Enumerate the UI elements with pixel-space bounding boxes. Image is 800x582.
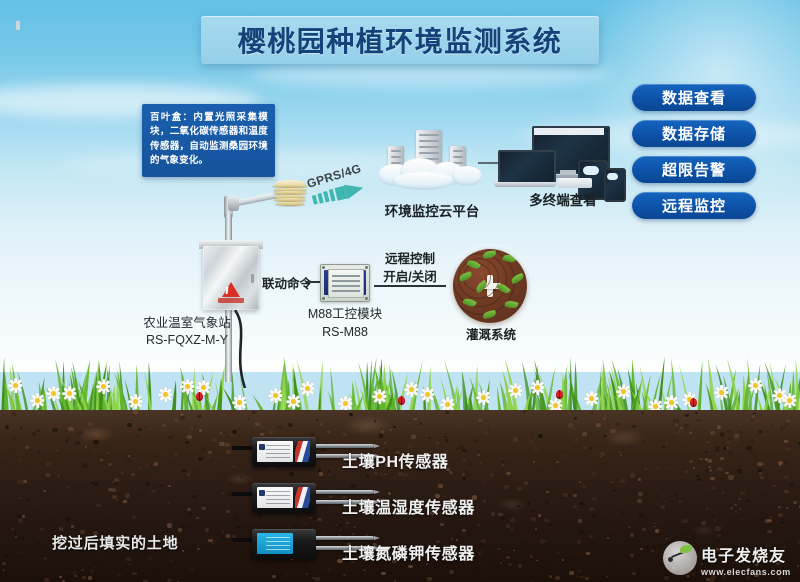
soil-speck <box>630 417 635 421</box>
soil-speck <box>235 518 240 522</box>
soil-speck <box>205 528 210 532</box>
daisy-flower <box>46 386 61 401</box>
soil-speck <box>497 488 499 490</box>
soil-speck <box>168 485 171 488</box>
soil-speck <box>108 463 112 466</box>
soil-speck <box>655 529 659 532</box>
soil-speck <box>784 440 788 443</box>
soil-speck <box>485 504 490 508</box>
soil-speck <box>25 446 29 449</box>
soil-speck <box>57 474 61 477</box>
soil-speck <box>530 440 534 443</box>
feature-pill-data-view[interactable]: 数据查看 <box>632 84 756 111</box>
soil-speck <box>107 452 108 453</box>
soil-speck <box>42 504 47 508</box>
soil-speck <box>689 432 692 434</box>
soil-speck <box>9 468 10 469</box>
soil-speck <box>637 499 642 503</box>
soil-speck <box>178 528 183 532</box>
cloud-puff-icon <box>452 166 482 186</box>
soil-speck <box>784 490 788 493</box>
soil-speck <box>490 424 494 427</box>
soil-speck <box>288 423 293 427</box>
daisy-flower <box>372 389 387 404</box>
soil-speck <box>192 498 194 499</box>
soil-speck <box>174 458 176 459</box>
soil-speck <box>231 433 234 435</box>
soil-speck <box>100 459 104 462</box>
soil-speck <box>116 499 118 501</box>
soil-speck <box>558 552 560 553</box>
soil-speck <box>308 562 311 565</box>
soil-speck <box>734 434 739 438</box>
soil-speck <box>591 412 593 413</box>
soil-speck <box>426 525 428 527</box>
soil-speck <box>637 481 640 483</box>
soil-speck <box>195 559 197 560</box>
soil-speck <box>197 541 200 543</box>
soil-speck <box>605 565 607 566</box>
soil-speck <box>353 526 356 529</box>
soil-speck <box>255 422 260 426</box>
soil-speck <box>159 484 163 487</box>
soil-speck <box>328 470 330 472</box>
m88-control-module-icon <box>320 264 370 302</box>
soil-speck <box>573 421 576 423</box>
cloud-platform-label: 环境监控云平台 <box>385 204 480 219</box>
louver-box-callout: 百叶盒：内置光照采集模块，二氧化碳传感器和温度传感器，自动监测桑园环境的气象变化… <box>142 104 275 177</box>
soil-speck <box>574 417 578 420</box>
soil-speck <box>167 523 173 527</box>
soil-speck <box>145 426 148 428</box>
desk-device <box>558 178 592 188</box>
soil-speck <box>498 513 502 516</box>
soil-speck <box>497 548 500 551</box>
soil-speck <box>382 579 386 582</box>
soil-speck <box>317 518 321 521</box>
soil-speck <box>393 426 396 428</box>
soil-speck <box>653 469 655 470</box>
soil-speck <box>84 439 89 443</box>
soil-speck <box>320 423 323 425</box>
soil-speck <box>770 509 773 511</box>
soil-speck <box>294 525 297 527</box>
sensor-wire <box>232 446 254 450</box>
soil-speck <box>632 572 636 575</box>
soil-speck <box>662 495 665 497</box>
soil-speck <box>96 504 101 508</box>
soil-speck <box>297 571 301 574</box>
soil-speck <box>379 434 383 437</box>
watermark-text: 电子发烧友 www.elecfans.com <box>701 542 791 577</box>
soil-speck <box>545 505 550 509</box>
soil-speck <box>229 528 233 531</box>
soil-speck <box>725 472 728 475</box>
soil-speck <box>562 559 565 561</box>
soil-speck <box>201 447 206 451</box>
soil-speck <box>235 514 237 516</box>
soil-speck <box>329 449 332 451</box>
soil-speck <box>568 423 574 427</box>
sensor-label-plate <box>257 487 293 508</box>
soil-speck <box>641 412 644 415</box>
soil-speck <box>550 533 552 535</box>
soil-speck <box>315 577 319 580</box>
soil-speck <box>434 564 439 568</box>
soil-speck <box>789 483 794 487</box>
soil-speck <box>655 466 659 469</box>
soil-speck <box>545 501 549 504</box>
soil-speck <box>81 569 84 571</box>
soil-speck <box>664 576 669 580</box>
soil-speck <box>572 427 575 429</box>
soil-speck <box>715 446 720 450</box>
soil-speck <box>366 475 369 478</box>
remote-control-line1: 远程控制 <box>372 251 448 269</box>
soil-speck <box>20 427 23 429</box>
soil-speck <box>438 484 443 488</box>
soil-speck <box>580 527 583 530</box>
soil-speck <box>436 442 439 444</box>
remote-control-line2: 开启/关闭 <box>372 269 448 287</box>
soil-speck <box>94 567 95 568</box>
soil-speck <box>19 536 24 540</box>
irrigation-caption: 灌溉系统 <box>445 324 537 344</box>
soil-speck <box>77 526 80 529</box>
soil-speck <box>338 528 343 532</box>
soil-speck <box>720 432 726 436</box>
soil-speck <box>5 555 8 558</box>
soil-speck <box>226 510 230 513</box>
feature-pill-label: 数据查看 <box>662 87 726 108</box>
cloud-wisp <box>250 60 610 88</box>
soil-speck <box>555 488 560 492</box>
daisy-flower <box>180 379 195 394</box>
soil-speck <box>630 473 636 477</box>
feature-pill-data-storage[interactable]: 数据存储 <box>632 120 756 147</box>
soil-speck <box>219 442 224 446</box>
soil-speck <box>785 423 788 425</box>
soil-speck <box>796 575 800 578</box>
soil-speck <box>23 480 27 483</box>
soil-speck <box>546 491 549 493</box>
soil-speck <box>491 512 496 516</box>
soil-speck <box>26 498 29 500</box>
soil-speck <box>126 557 131 561</box>
soil-speck <box>223 457 225 458</box>
soil-speck <box>501 517 505 520</box>
soil-speck <box>541 469 544 471</box>
soil-speck <box>226 534 231 538</box>
soil-speck <box>59 527 63 531</box>
soil-speck <box>455 413 458 415</box>
soil-speck <box>603 435 606 438</box>
soil-speck <box>573 557 577 560</box>
soil-npk-sensor-icon <box>252 529 316 559</box>
soil-speck <box>346 522 349 524</box>
laptop-screen-icon <box>498 150 556 186</box>
soil-speck <box>770 425 773 427</box>
soil-speck <box>209 539 211 540</box>
cloud-puff-icon <box>392 172 454 190</box>
feature-pill-threshold-alarm[interactable]: 超限告警 <box>632 156 756 183</box>
soil-speck <box>169 460 171 462</box>
soil-speck <box>479 514 481 515</box>
soil-speck <box>462 473 465 476</box>
soil-speck <box>603 417 606 419</box>
soil-speck <box>99 560 103 563</box>
soil-speck <box>685 456 690 460</box>
soil-speck <box>133 410 138 414</box>
soil-speck <box>578 519 582 522</box>
soil-speck <box>695 412 698 415</box>
soil-speck <box>577 540 581 543</box>
soil-speck <box>711 487 714 489</box>
daisy-flower <box>8 378 23 393</box>
soil-speck <box>128 455 130 457</box>
soil-ph-sensor-caption: 土壤PH传感器 <box>342 448 448 472</box>
daisy-flower <box>404 382 419 397</box>
feature-pill-label: 数据存储 <box>662 123 726 144</box>
soil-speck <box>534 447 538 450</box>
soil-speck <box>689 460 693 463</box>
soil-speck <box>117 573 122 577</box>
soil-speck <box>65 440 69 443</box>
soil-speck <box>620 455 622 457</box>
soil-speck <box>674 514 677 517</box>
soil-speck <box>556 461 559 464</box>
soil-speck <box>328 530 332 533</box>
soil-speck <box>538 514 542 517</box>
soil-speck <box>667 517 670 519</box>
soil-speck <box>94 482 98 485</box>
soil-speck <box>724 471 726 473</box>
soil-speck <box>236 525 240 528</box>
soil-speck <box>722 492 724 494</box>
soil-speck <box>411 435 415 438</box>
soil-speck <box>319 472 323 475</box>
soil-speck <box>549 523 553 526</box>
soil-speck <box>675 423 679 426</box>
soil-speck <box>717 467 722 471</box>
soil-speck <box>63 524 65 525</box>
soil-speck <box>691 436 696 440</box>
soil-speck <box>208 483 210 484</box>
ground-note: 挖过后填实的土地 <box>52 532 178 553</box>
soil-speck <box>645 496 646 497</box>
soil-speck <box>684 442 687 445</box>
soil-speck <box>318 469 322 472</box>
soil-speck <box>477 454 480 456</box>
soil-speck <box>327 431 330 433</box>
soil-speck <box>96 434 101 438</box>
soil-speck <box>589 507 594 511</box>
soil-speck <box>384 474 386 476</box>
elecfans-logo-icon <box>663 541 697 575</box>
soil-speck <box>563 493 568 497</box>
feature-pill-remote-monitor[interactable]: 远程监控 <box>632 192 756 219</box>
soil-speck <box>143 475 147 478</box>
soil-speck <box>129 564 131 565</box>
soil-speck <box>752 415 755 418</box>
soil-speck <box>657 410 660 412</box>
soil-speck <box>381 431 383 433</box>
soil-speck <box>452 423 454 425</box>
soil-speck <box>182 515 186 518</box>
soil-speck <box>127 459 133 463</box>
soil-speck <box>561 573 563 575</box>
soil-speck <box>767 519 771 522</box>
high-voltage-warning-icon <box>222 282 240 297</box>
station-name: 农业温室气象站 <box>112 315 262 332</box>
ladybug-icon <box>196 392 203 401</box>
soil-speck <box>642 528 647 532</box>
soil-speck <box>639 520 641 521</box>
soil-speck <box>82 576 86 579</box>
soil-speck <box>482 483 484 485</box>
daisy-flower <box>616 384 631 399</box>
soil-speck <box>760 476 764 479</box>
soil-speck <box>585 577 589 580</box>
soil-speck <box>445 411 449 414</box>
soil-speck <box>150 567 155 571</box>
soil-speck <box>191 428 193 430</box>
page-title: 樱桃园种植环境监测系统 <box>238 20 563 60</box>
soil-speck <box>93 440 98 444</box>
ladybug-icon <box>556 390 563 399</box>
soil-speck <box>269 561 274 565</box>
irrigation-system-icon <box>453 249 527 323</box>
soil-speck <box>504 485 509 489</box>
soil-speck <box>710 431 715 435</box>
soil-speck <box>554 467 558 470</box>
soil-speck <box>624 494 629 498</box>
soil-speck <box>738 424 741 426</box>
daisy-flower <box>714 385 729 400</box>
soil-speck <box>40 528 43 531</box>
soil-speck <box>698 461 701 463</box>
soil-speck <box>186 477 188 479</box>
soil-speck <box>310 570 314 573</box>
soil-speck <box>473 439 478 443</box>
louver-shield-icon <box>272 184 308 206</box>
soil-speck <box>573 494 577 497</box>
soil-speck <box>19 550 24 554</box>
soil-speck <box>467 463 472 467</box>
sensor-wire <box>232 538 254 542</box>
soil-speck <box>258 514 261 517</box>
soil-speck <box>501 460 505 463</box>
soil-speck <box>228 412 232 415</box>
soil-temp-humidity-sensor-caption: 土壤温湿度传感器 <box>342 494 475 518</box>
soil-speck <box>706 508 708 509</box>
soil-speck <box>786 448 791 452</box>
soil-speck <box>85 446 87 448</box>
soil-speck <box>685 414 689 417</box>
soil-speck <box>328 474 331 476</box>
soil-speck <box>374 472 378 475</box>
soil-speck <box>187 508 191 511</box>
watermark-site: www.elecfans.com <box>701 567 791 577</box>
page-title-banner: 樱桃园种植环境监测系统 <box>201 16 599 64</box>
soil-speck <box>758 430 763 434</box>
soil-speck <box>708 466 710 468</box>
soil-speck <box>67 486 70 488</box>
soil-speck <box>224 432 227 434</box>
soil-speck <box>549 575 552 578</box>
soil-speck <box>683 533 686 535</box>
soil-speck <box>343 433 346 435</box>
soil-speck <box>373 476 378 480</box>
soil-speck <box>720 524 723 526</box>
soil-speck <box>737 469 742 473</box>
daisy-flower <box>748 378 763 393</box>
soil-speck <box>715 449 719 452</box>
soil-speck <box>168 436 172 439</box>
soil-speck <box>756 419 761 423</box>
soil-speck <box>338 524 342 527</box>
soil-speck <box>769 421 774 425</box>
soil-speck <box>536 560 538 562</box>
soil-speck <box>305 558 310 562</box>
soil-speck <box>673 437 675 438</box>
soil-speck <box>389 429 392 431</box>
soil-speck <box>740 431 742 432</box>
soil-speck <box>44 578 49 582</box>
soil-speck <box>78 421 82 424</box>
soil-speck <box>583 446 587 449</box>
soil-speck <box>689 428 691 429</box>
soil-speck <box>162 424 166 427</box>
soil-speck <box>709 469 712 471</box>
soil-speck <box>602 491 606 494</box>
soil-speck <box>697 478 701 481</box>
soil-speck <box>278 418 283 422</box>
soil-speck <box>665 467 668 469</box>
soil-speck <box>398 472 403 476</box>
soil-speck <box>517 487 522 491</box>
soil-speck <box>570 568 574 571</box>
soil-speck <box>596 423 601 427</box>
soil-speck <box>72 571 77 575</box>
soil-speck <box>638 478 642 481</box>
soil-speck <box>419 422 423 425</box>
soil-speck <box>197 545 199 546</box>
soil-speck <box>757 462 762 466</box>
soil-speck <box>55 449 59 452</box>
soil-speck <box>580 537 582 539</box>
soil-speck <box>379 477 382 479</box>
soil-speck <box>654 522 657 524</box>
soil-speck <box>78 431 83 435</box>
soil-speck <box>632 425 636 428</box>
soil-speck <box>2 562 6 565</box>
soil-speck <box>99 423 102 425</box>
soil-speck <box>739 491 744 495</box>
soil-speck <box>66 437 69 439</box>
arm-joint <box>228 196 239 211</box>
soil-speck <box>523 411 526 413</box>
soil-speck <box>638 492 643 496</box>
soil-speck <box>208 451 212 454</box>
soil-speck <box>600 452 605 456</box>
soil-speck <box>111 488 116 492</box>
soil-speck <box>652 546 656 549</box>
soil-speck <box>549 414 551 415</box>
soil-speck <box>574 480 576 481</box>
soil-speck <box>618 451 622 454</box>
soil-speck <box>182 546 184 547</box>
